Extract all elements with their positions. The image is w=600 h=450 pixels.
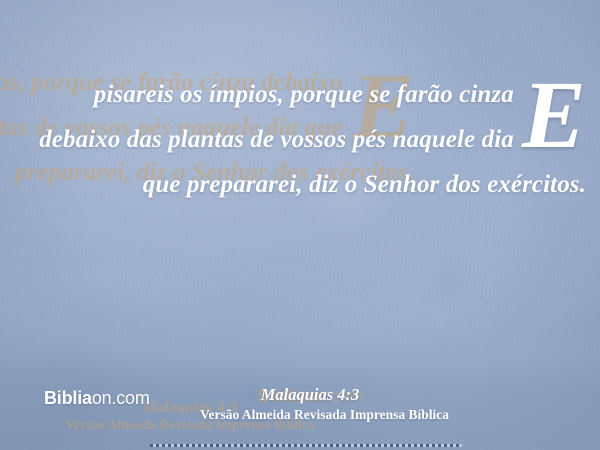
verse-text: pisareis os ímpios, porque se farão cinz… xyxy=(39,81,586,198)
bible-version: Versão Almeida Revisada Imprensa Bíblica xyxy=(200,406,420,424)
verse-dropcap: E xyxy=(514,74,586,153)
dashed-divider xyxy=(150,444,462,447)
verse-image-canvas: E pisareis os ímpios, porque se farão ci… xyxy=(0,0,600,450)
main-text-layer: E pisareis os ímpios, porque se farão ci… xyxy=(0,0,600,450)
brand-name-light: on.com xyxy=(92,388,150,408)
brand-name-strong: Biblia xyxy=(44,388,92,408)
verse-reference-block: Malaquias 4:3 Versão Almeida Revisada Im… xyxy=(200,385,420,424)
bibliaon-brand[interactable]: Bibliaon.com xyxy=(44,388,150,409)
verse-paragraph: E pisareis os ímpios, porque se farão ci… xyxy=(14,72,586,207)
verse-reference: Malaquias 4:3 xyxy=(200,385,420,405)
